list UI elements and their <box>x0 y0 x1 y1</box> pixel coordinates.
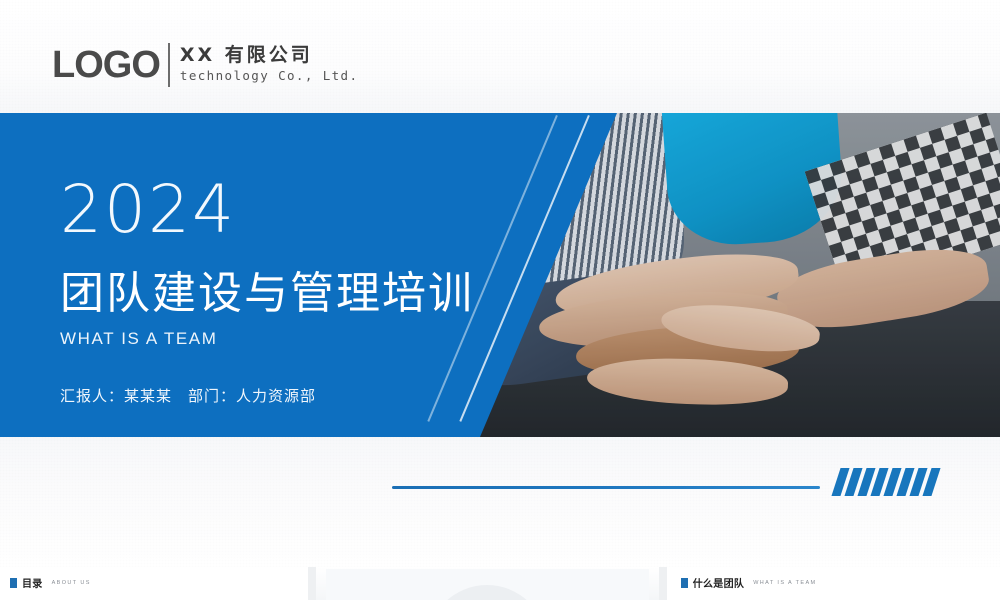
company-name-en: technology Co., Ltd. <box>180 68 359 84</box>
thumbnail-3-title-cn: 什么是团队 <box>693 575 745 590</box>
main-title-en: WHAT IS A TEAM <box>60 329 560 349</box>
bullet-square-icon <box>681 578 688 588</box>
logo-company-text: XX 有限公司 technology Co., Ltd. <box>180 45 359 84</box>
logo-divider <box>168 43 170 87</box>
thumbnail-1-heading: 目录 ABOUT US <box>10 575 91 590</box>
thumbnail-3-heading: 什么是团队 WHAT IS A TEAM <box>681 575 817 590</box>
slide-canvas: LOGO XX 有限公司 technology Co., Ltd. <box>0 0 1000 567</box>
bullet-square-icon <box>10 578 17 588</box>
logo-mark-text: LOGO <box>52 46 160 84</box>
slide-thumbnail-strip: 目录 ABOUT US 什么是团队 WHAT IS A TEAM <box>0 567 1000 600</box>
main-title-cn: 团队建设与管理培训 <box>60 269 560 320</box>
company-logo: LOGO XX 有限公司 technology Co., Ltd. <box>52 40 358 90</box>
decorative-slashes <box>836 468 966 496</box>
presenter-line: 汇报人：某某某 部门：人力资源部 <box>60 385 316 406</box>
thumbnail-1-title-cn: 目录 <box>22 575 43 590</box>
slide-thumbnail-1[interactable]: 目录 ABOUT US <box>0 567 308 600</box>
company-name-cn: XX 有限公司 <box>180 45 359 67</box>
banner-text-group: 2024 团队建设与管理培训 WHAT IS A TEAM <box>60 113 560 349</box>
title-banner: 2024 团队建设与管理培训 WHAT IS A TEAM 汇报人：某某某 部门… <box>0 113 1000 437</box>
decorative-rule <box>392 486 820 489</box>
slide-thumbnail-2[interactable] <box>316 567 659 600</box>
thumbnail-1-title-en: ABOUT US <box>52 580 91 586</box>
slide-thumbnail-3[interactable]: 什么是团队 WHAT IS A TEAM <box>667 567 1000 600</box>
thumbnail-3-title-en: WHAT IS A TEAM <box>753 580 816 586</box>
year-heading: 2024 <box>60 177 560 243</box>
background-bottom-wash <box>0 437 1000 567</box>
